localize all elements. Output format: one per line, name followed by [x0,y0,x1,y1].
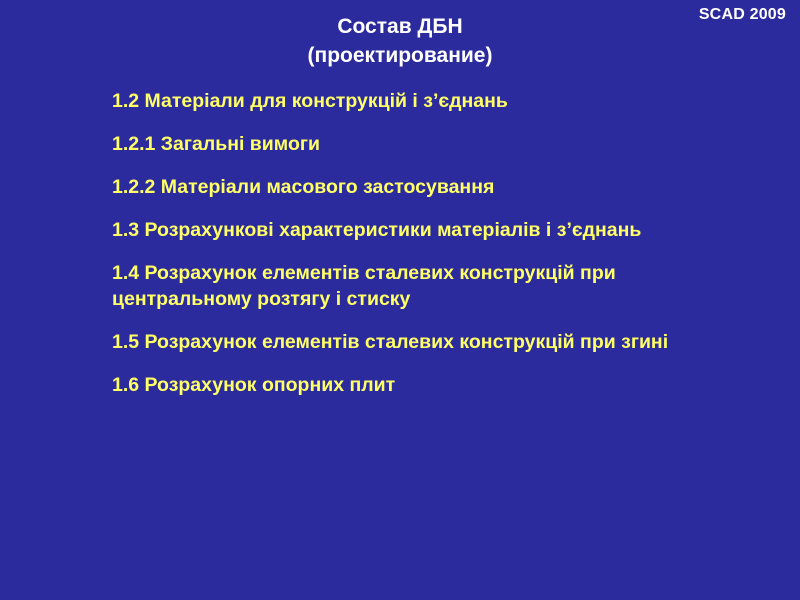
slide-content-list: 1.2 Матеріали для конструкцій і з’єднань… [112,88,712,398]
list-item: 1.2.1 Загальні вимоги [112,131,712,157]
slide-canvas: SCAD 2009 Состав ДБН (проектирование) 1.… [0,0,800,600]
slide-title-line-1: Состав ДБН [0,12,800,41]
list-item: 1.6 Розрахунок опорних плит [112,372,712,398]
list-item: 1.4 Розрахунок елементів сталевих констр… [112,260,712,312]
list-item: 1.2.2 Матеріали масового застосування [112,174,712,200]
list-item: 1.3 Розрахункові характеристики матеріал… [112,217,712,243]
slide-title: Состав ДБН (проектирование) [0,12,800,70]
list-item: 1.5 Розрахунок елементів сталевих констр… [112,329,712,355]
list-item: 1.2 Матеріали для конструкцій і з’єднань [112,88,712,114]
slide-title-line-2: (проектирование) [0,41,800,70]
